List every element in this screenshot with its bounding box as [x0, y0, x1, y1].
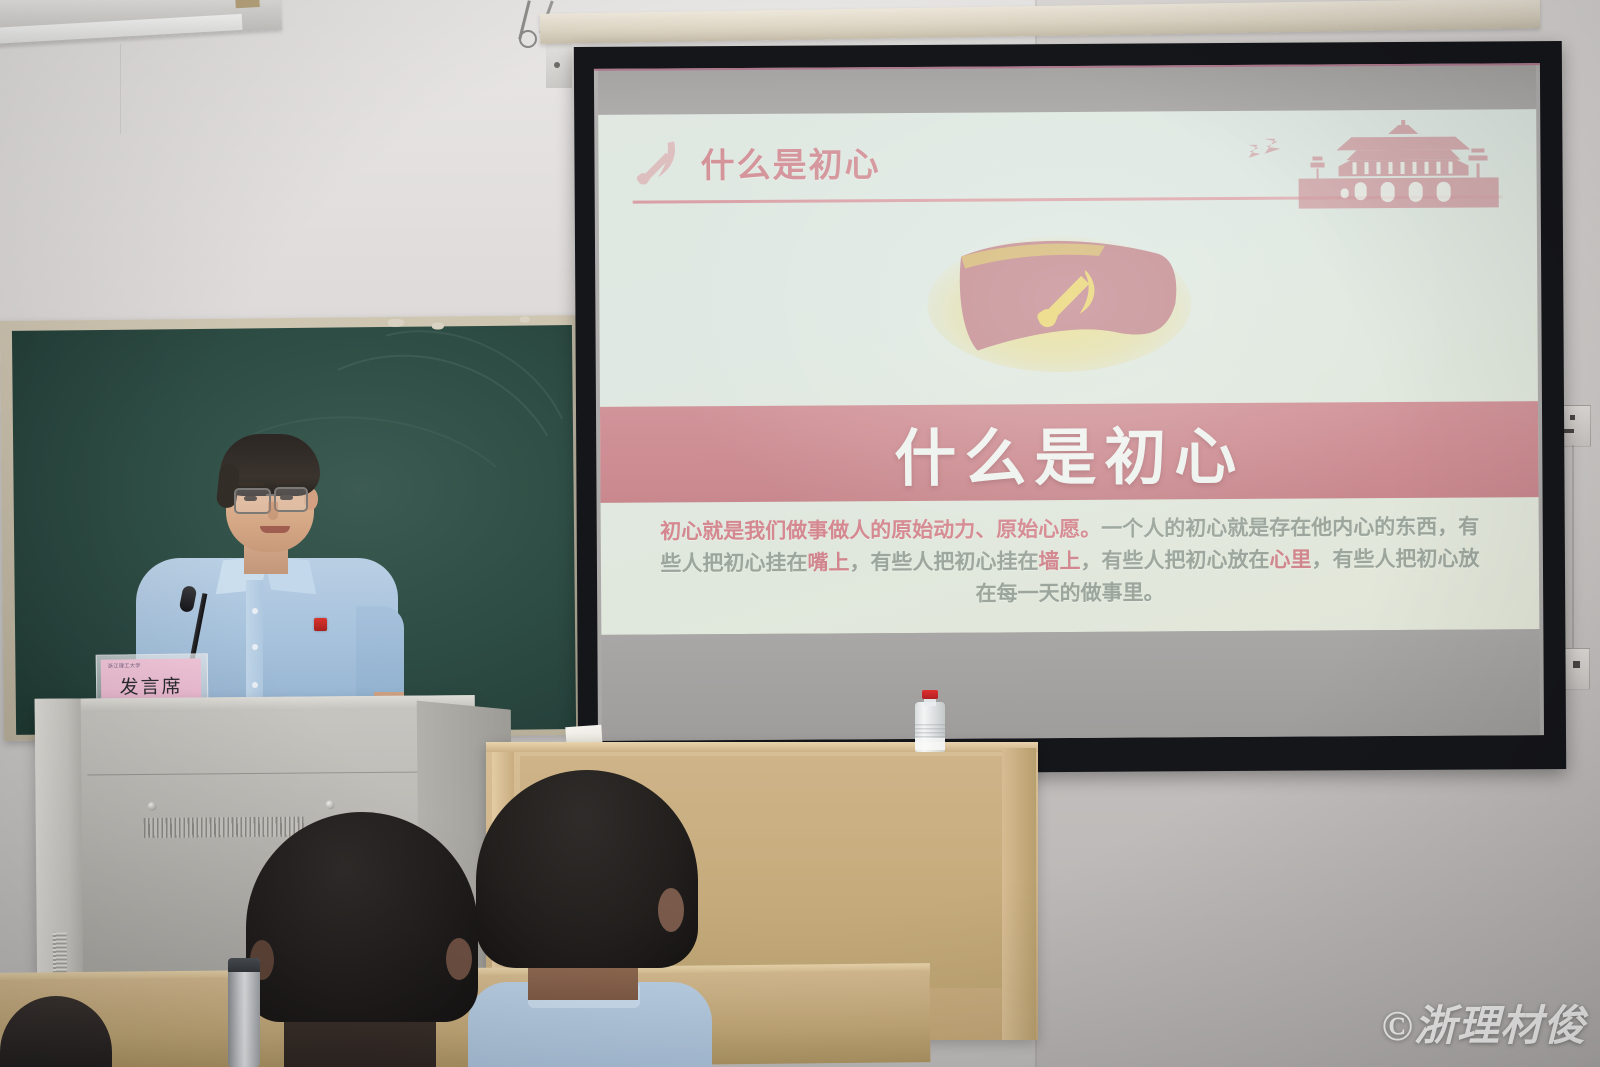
speaker-eyebrow-left — [238, 482, 264, 486]
audience-head — [0, 996, 112, 1067]
thermos-flask — [228, 958, 260, 1067]
desk-right-post — [1002, 748, 1036, 1040]
water-bottle-red-cap — [915, 690, 945, 752]
board-chip — [520, 316, 530, 322]
lectern-screw — [326, 800, 335, 809]
slide-body-keyword-2: 墙上 — [1038, 550, 1080, 573]
slide-body-seg-2: ，有些人把初心挂在 — [849, 550, 1038, 574]
party-flag-graphic — [899, 211, 1230, 373]
podium-nameplate: 浙江理工大学 发言席 — [101, 658, 202, 701]
audience-ear — [446, 938, 472, 980]
screen-bracket-screw — [554, 62, 560, 68]
bottle-label — [915, 738, 945, 750]
slide-header: 什么是初心 — [632, 135, 880, 189]
university-logo-text: 浙江理工大学 — [108, 662, 141, 669]
hammer-and-sickle-emblem — [632, 136, 686, 188]
wall-conduit — [1572, 445, 1574, 658]
desk-edge — [486, 742, 1038, 752]
wall-panel-line — [0, 44, 121, 134]
lectern-top-surface — [35, 695, 475, 713]
bottle-ribs — [915, 724, 945, 738]
watermark: ©浙理材俊 — [1382, 992, 1586, 1053]
nameplate-label: 发言席 — [119, 672, 182, 700]
slide-body-seg-3: ，有些人把初心放在 — [1080, 549, 1269, 573]
screen-bracket-ring — [519, 30, 537, 48]
eyeglasses-bridge — [266, 494, 276, 496]
thermos-cap — [228, 958, 260, 972]
screen-unlit-top — [598, 63, 1536, 115]
lectern-screw — [148, 802, 157, 811]
speaker-eyebrow-right — [276, 480, 300, 484]
party-member-lapel-pin — [314, 618, 327, 631]
bottle-cap — [922, 690, 938, 699]
board-chip — [432, 322, 444, 329]
slide-title-band: 什么是初心 — [600, 401, 1539, 503]
eyeglasses-lens-left — [234, 488, 271, 514]
speaker-nose — [268, 502, 278, 520]
eyeglasses-lens-right — [274, 487, 308, 512]
audience-hair — [476, 770, 698, 968]
screen-unlit-bottom — [601, 629, 1540, 741]
slide-header-title: 什么是初心 — [700, 137, 880, 187]
audience-ear — [658, 888, 684, 932]
screen-surface: 什么是初心 — [594, 63, 1544, 741]
projection-screen: 什么是初心 — [574, 41, 1566, 775]
slide-body-lead: 初心就是我们做事做人的原始动力、原始心愿。 — [660, 518, 1101, 544]
classroom-photo: 什么是初心 — [0, 0, 1600, 1067]
audience-member-front — [246, 812, 478, 1067]
slide-body-text: 初心就是我们做事做人的原始动力、原始心愿。一个人的初心就是存在他内心的东西，有些… — [657, 511, 1484, 612]
audience-member-edge — [0, 996, 150, 1067]
slide-body-keyword-1: 嘴上 — [807, 551, 849, 574]
slide-main-title: 什么是初心 — [894, 406, 1245, 498]
projected-slide: 什么是初心 — [598, 109, 1539, 635]
slide-body-keyword-3: 心里 — [1269, 548, 1311, 571]
shirt-button — [252, 682, 258, 688]
audience-member-blue-shirt — [462, 770, 712, 1067]
speaker-mouth — [260, 526, 290, 533]
audience-hair — [246, 812, 478, 1022]
tiananmen-gate-silhouette — [1228, 115, 1519, 221]
shirt-button — [252, 644, 258, 650]
board-chip — [388, 319, 404, 327]
shirt-button — [252, 608, 258, 614]
